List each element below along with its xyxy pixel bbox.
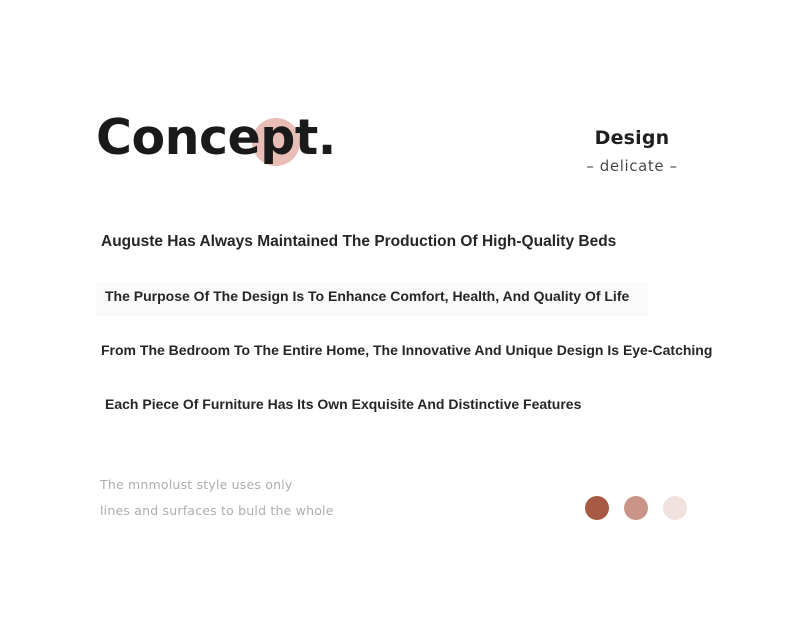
logo-wordmark: Concept. — [96, 108, 336, 168]
body-line-row: From The Bedroom To The Entire Home, The… — [0, 336, 790, 390]
color-swatch-terracotta[interactable] — [585, 496, 609, 520]
color-swatch-pale-blush[interactable] — [663, 496, 687, 520]
design-title: Design — [532, 126, 732, 150]
color-swatch-group — [585, 496, 687, 520]
caption-block: The mnmolust style uses only lines and s… — [100, 472, 400, 524]
caption-line-2: lines and surfaces to buld the whole — [100, 498, 400, 524]
design-subtitle: – delicate – — [532, 156, 732, 176]
color-swatch-dusty-rose[interactable] — [624, 496, 648, 520]
body-line-row: Each Piece Of Furniture Has Its Own Exqu… — [0, 390, 790, 444]
body-line-list: Auguste Has Always Maintained The Produc… — [0, 228, 790, 444]
slide-canvas: Concept. Design – delicate – Auguste Has… — [0, 0, 790, 635]
body-line-text: From The Bedroom To The Entire Home, The… — [101, 336, 712, 364]
caption-line-1: The mnmolust style uses only — [100, 472, 400, 498]
design-header: Design – delicate – — [532, 126, 732, 176]
body-line-text: The Purpose Of The Design Is To Enhance … — [105, 282, 629, 310]
body-line-text: Auguste Has Always Maintained The Produc… — [101, 228, 616, 256]
body-line-row: The Purpose Of The Design Is To Enhance … — [0, 282, 790, 336]
body-line-text: Each Piece Of Furniture Has Its Own Exqu… — [105, 390, 581, 418]
brand-logo: Concept. — [96, 108, 326, 184]
body-line-row: Auguste Has Always Maintained The Produc… — [0, 228, 790, 282]
